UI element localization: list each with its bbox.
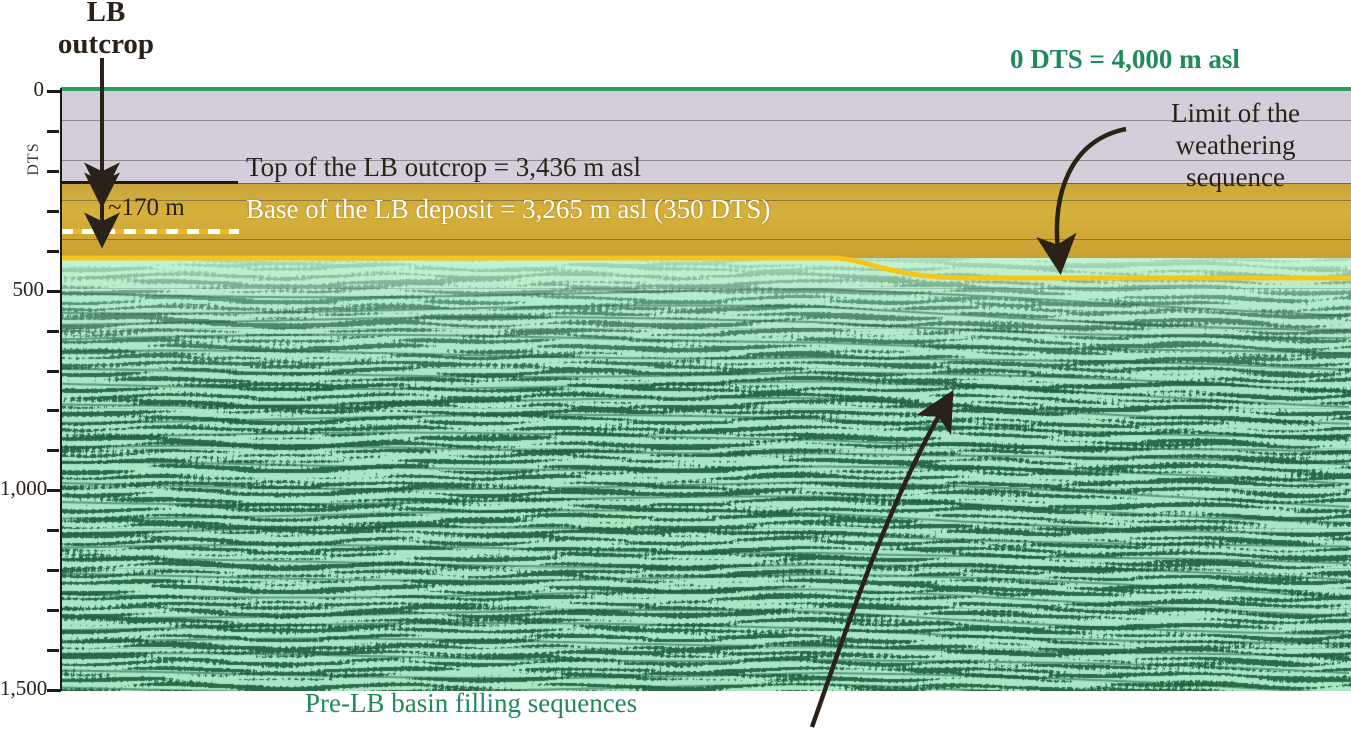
top-of-lb-label: Top of the LB outcrop = 3,436 m asl [246,152,641,183]
y-axis-tick [47,370,59,373]
y-axis-line [60,88,62,691]
y-axis-tick [47,210,59,213]
gridline [61,608,1351,609]
weathering-label-line2: weathering [1128,130,1343,162]
y-axis-tick [47,569,59,572]
gridline [61,288,1351,289]
y-axis-tick [47,170,59,173]
y-axis-tick [47,90,61,93]
lb-outcrop-label-line1: LB [36,0,176,28]
weathering-label-line1: Limit of the [1128,98,1343,130]
y-axis-tick [47,290,61,293]
y-axis-tick [47,130,59,133]
y-axis-tick [47,250,59,253]
gridline [61,568,1351,569]
y-axis-tick-label: 0 [0,79,44,100]
lb-thickness-label: ~170 m [108,194,185,222]
gridline [61,408,1351,409]
gridline [61,328,1351,329]
lb-outcrop-label: LB outcrop [36,0,176,61]
weathering-limit-label: Limit of the weathering sequence [1128,98,1343,194]
y-axis-tick [47,449,59,452]
y-axis-tick [47,330,59,333]
gridline [61,528,1351,529]
y-axis-tick [47,649,59,652]
base-lb-dashed-marker [61,229,239,234]
y-axis-tick [47,409,59,412]
y-axis-tick [47,489,61,492]
top-lb-marker-line [60,181,238,184]
y-axis-tick [47,609,59,612]
base-of-lb-label: Base of the LB deposit = 3,265 m asl (35… [246,194,770,225]
gridline [61,448,1351,449]
datum-label: 0 DTS = 4,000 m asl [1010,44,1240,75]
gridline [61,368,1351,369]
gridline [61,239,1351,240]
y-axis-tick-label: 1,000 [0,478,44,499]
gridline [61,488,1351,489]
gridline [61,648,1351,649]
datum-line-0dts [61,87,1351,91]
y-axis-title: DTS [25,119,43,199]
pre-lb-sequences-label: Pre-LB basin filling sequences [305,688,637,719]
y-axis-tick [47,689,61,692]
weathering-label-line3: sequence [1128,162,1343,194]
lb-outcrop-label-line2: outcrop [36,28,176,60]
y-axis-tick-label: 500 [0,279,44,300]
y-axis-tick-label: 1,500 [0,678,44,699]
y-axis-tick [47,529,59,532]
